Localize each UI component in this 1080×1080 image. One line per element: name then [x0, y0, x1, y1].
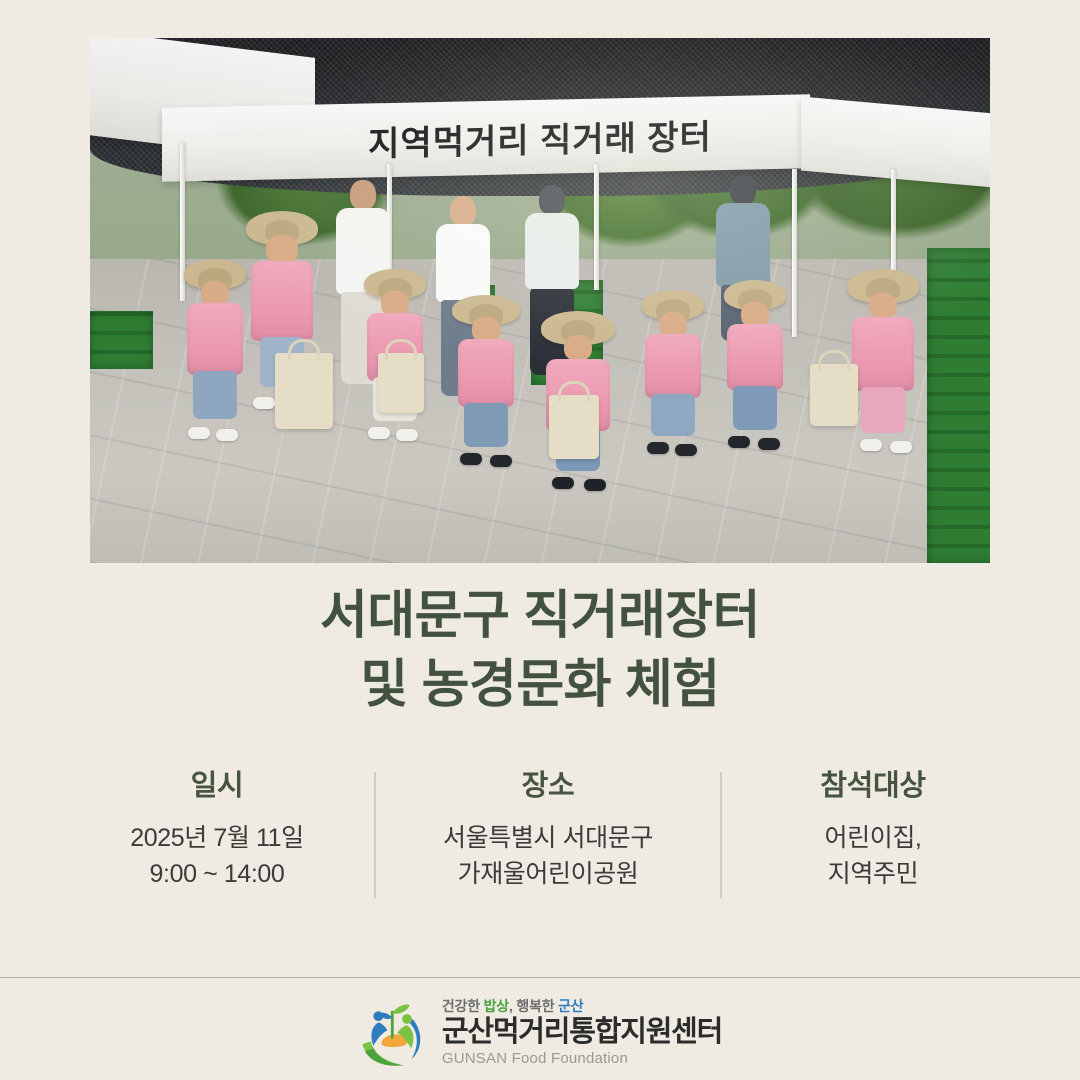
footer-organization-name: 군산먹거리통합지원센터 [442, 1018, 722, 1047]
photo-tote-bag-4 [810, 364, 858, 426]
title-line-2: 및 농경문화 체험 [0, 651, 1080, 720]
footer-divider [0, 977, 1080, 978]
photo-tote-bag-2 [378, 353, 424, 413]
event-info-row: 일시 2025년 7월 11일 9:00 ~ 14:00 장소 서울특별시 서대… [60, 762, 1020, 912]
footer-tagline-part2: , 행복한 [509, 998, 558, 1014]
photo-tote-bag-3 [549, 395, 599, 459]
photo-child-7 [720, 280, 790, 511]
poster-title: 서대문구 직거래장터 및 농경문화 체험 [0, 582, 1080, 719]
info-value-place-line-2: 가재울어린이공원 [384, 856, 712, 892]
footer-organization-name-en: GUNSAN Food Foundation [442, 1051, 722, 1066]
photo-tent-pole-4 [792, 169, 797, 337]
event-photo-scene: 지역먹거리 직거래 장터 [90, 38, 990, 563]
photo-crate-stack-far [90, 311, 153, 369]
photo-tent-pole-5 [891, 169, 896, 285]
gunsan-food-foundation-logo-icon [358, 998, 428, 1068]
info-value-date-line-2: 9:00 ~ 14:00 [68, 856, 366, 892]
title-line-1: 서대문구 직거래장터 [0, 582, 1080, 651]
info-column-audience: 참석대상 어린이집, 지역주민 [722, 762, 1024, 893]
info-value-place-line-1: 서울특별시 서대문구 [384, 820, 712, 856]
event-photo: 지역먹거리 직거래 장터 [90, 38, 990, 563]
info-label-date: 일시 [68, 762, 366, 804]
poster-canvas: 지역먹거리 직거래 장터 [0, 0, 1080, 1080]
photo-tote-bag-1 [275, 353, 333, 429]
info-column-place: 장소 서울특별시 서대문구 가재울어린이공원 [376, 762, 720, 893]
photo-child-4 [450, 295, 522, 526]
photo-banner-text: 지역먹거리 직거래 장터 [288, 107, 792, 167]
info-value-audience-line-2: 지역주민 [730, 856, 1016, 892]
photo-crate-stack-right [927, 248, 990, 563]
photo-tent-pole-3 [594, 164, 599, 290]
footer-logo-block: 건강한 밥상, 행복한 군산 군산먹거리통합지원센터 GUNSAN Food F… [0, 985, 1080, 1080]
photo-child-1 [180, 259, 250, 511]
info-value-audience-line-1: 어린이집, [730, 820, 1016, 856]
photo-child-6 [639, 290, 707, 511]
info-label-audience: 참석대상 [730, 762, 1016, 804]
footer-tagline-part1: 건강한 [442, 998, 484, 1014]
footer-tagline: 건강한 밥상, 행복한 군산 [442, 999, 722, 1013]
footer-tagline-blue: 군산 [558, 998, 583, 1014]
footer-logo-text: 건강한 밥상, 행복한 군산 군산먹거리통합지원센터 GUNSAN Food F… [442, 999, 722, 1066]
info-label-place: 장소 [384, 762, 712, 804]
info-column-date: 일시 2025년 7월 11일 9:00 ~ 14:00 [60, 762, 374, 893]
footer-tagline-green: 밥상 [484, 998, 509, 1014]
info-value-date-line-1: 2025년 7월 11일 [68, 820, 366, 856]
